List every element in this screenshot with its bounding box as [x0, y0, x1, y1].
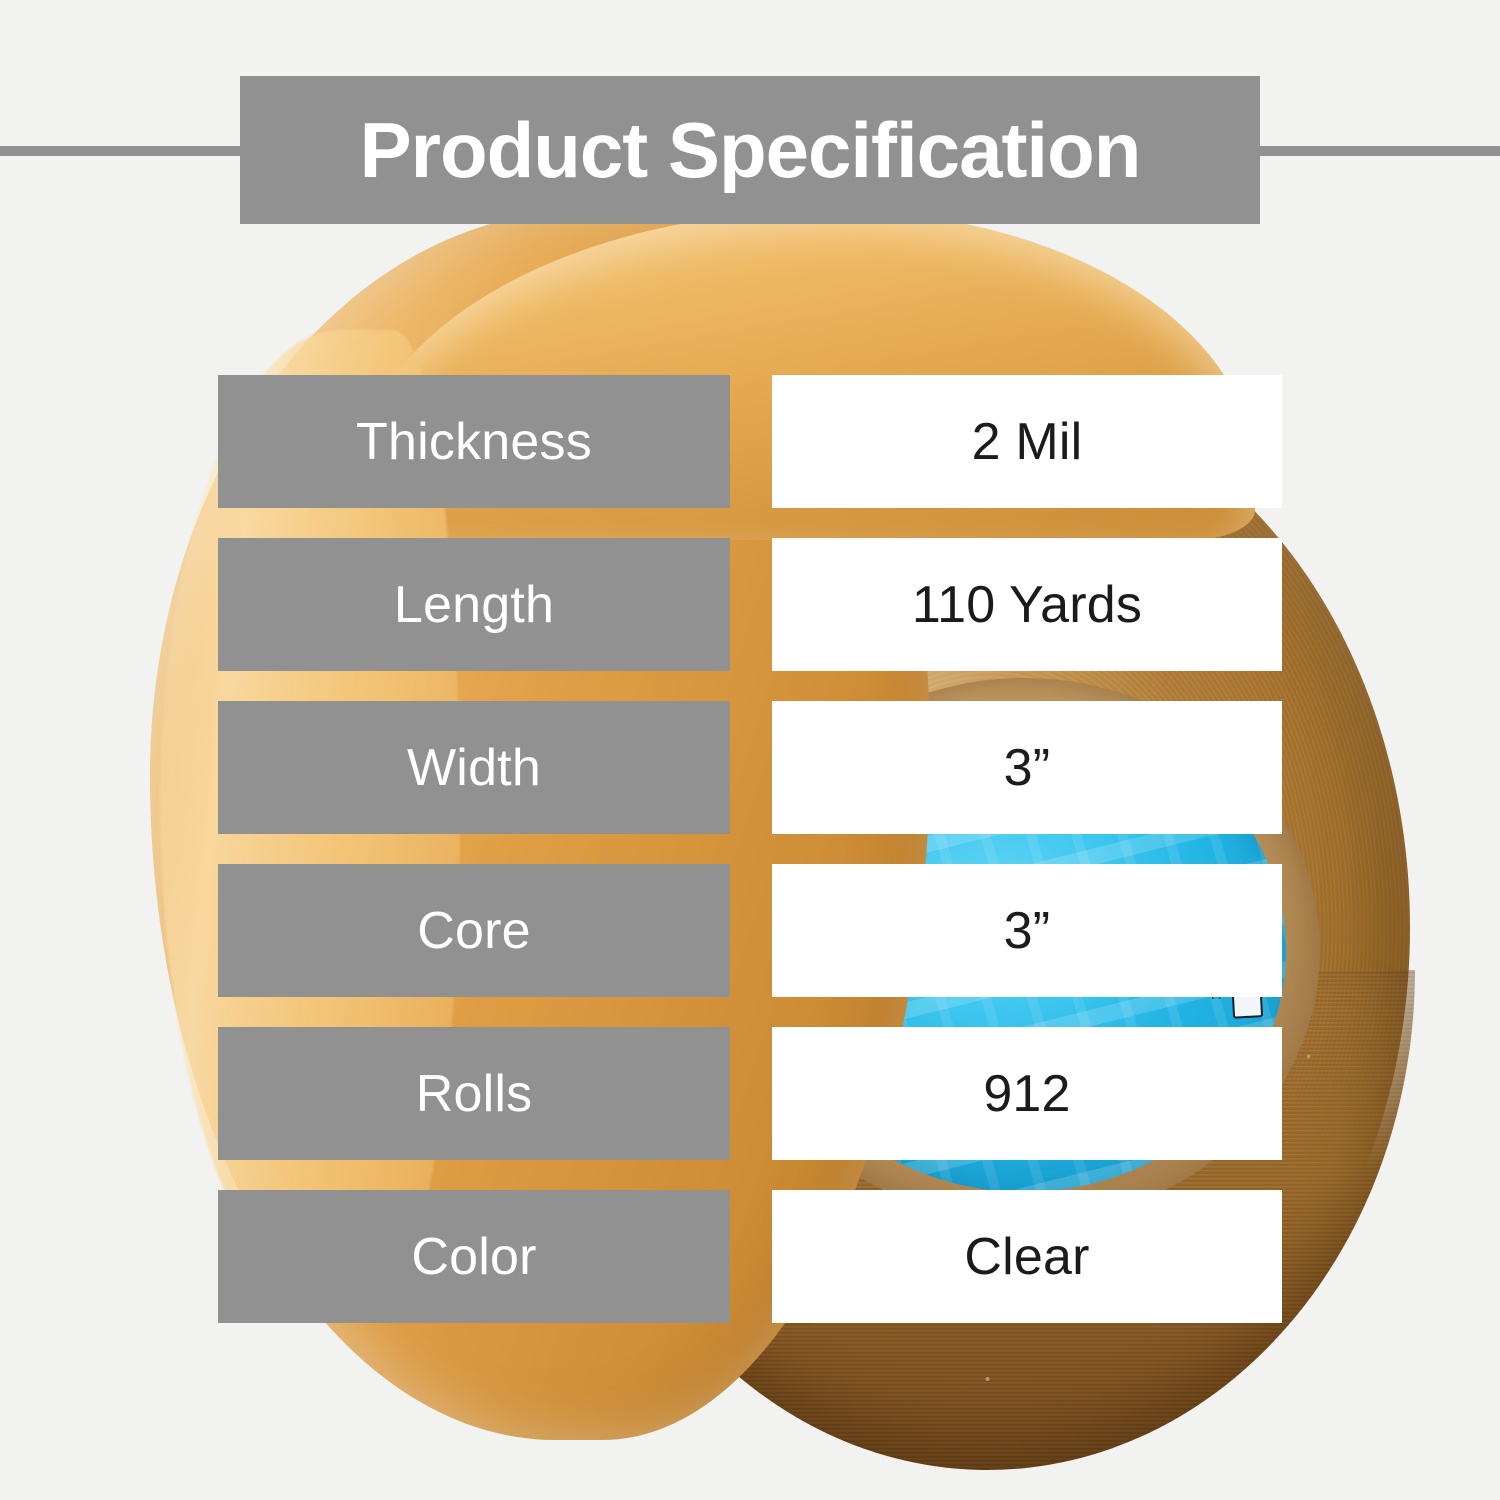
spec-row: Thickness2 Mil: [218, 375, 1282, 508]
spec-label-core: Core: [218, 864, 730, 997]
spec-row-gap: [730, 701, 772, 834]
spec-label-width: Width: [218, 701, 730, 834]
spec-row: Core3”: [218, 864, 1282, 997]
spec-value-length: 110 Yards: [772, 538, 1282, 671]
page-title: Product Specification: [360, 111, 1141, 189]
spec-row-gap: [730, 864, 772, 997]
spec-value-thickness: 2 Mil: [772, 375, 1282, 508]
spec-row-gap: [730, 375, 772, 508]
spec-value-rolls: 912: [772, 1027, 1282, 1160]
spec-row: Width3”: [218, 701, 1282, 834]
spec-row: Length110 Yards: [218, 538, 1282, 671]
spec-row: ColorClear: [218, 1190, 1282, 1323]
spec-value-color: Clear: [772, 1190, 1282, 1323]
spec-label-thickness: Thickness: [218, 375, 730, 508]
title-banner: Product Specification: [240, 76, 1260, 224]
spec-value-core: 3”: [772, 864, 1282, 997]
product-specification-graphic: TAPE A SHIELD TAPE SHIELD TAPE Product S…: [0, 0, 1500, 1500]
specification-table: Thickness2 MilLength110 YardsWidth3”Core…: [218, 375, 1282, 1323]
spec-row-gap: [730, 1027, 772, 1160]
spec-label-length: Length: [218, 538, 730, 671]
spec-label-rolls: Rolls: [218, 1027, 730, 1160]
spec-label-color: Color: [218, 1190, 730, 1323]
spec-row-gap: [730, 538, 772, 671]
spec-value-width: 3”: [772, 701, 1282, 834]
spec-row: Rolls912: [218, 1027, 1282, 1160]
spec-row-gap: [730, 1190, 772, 1323]
